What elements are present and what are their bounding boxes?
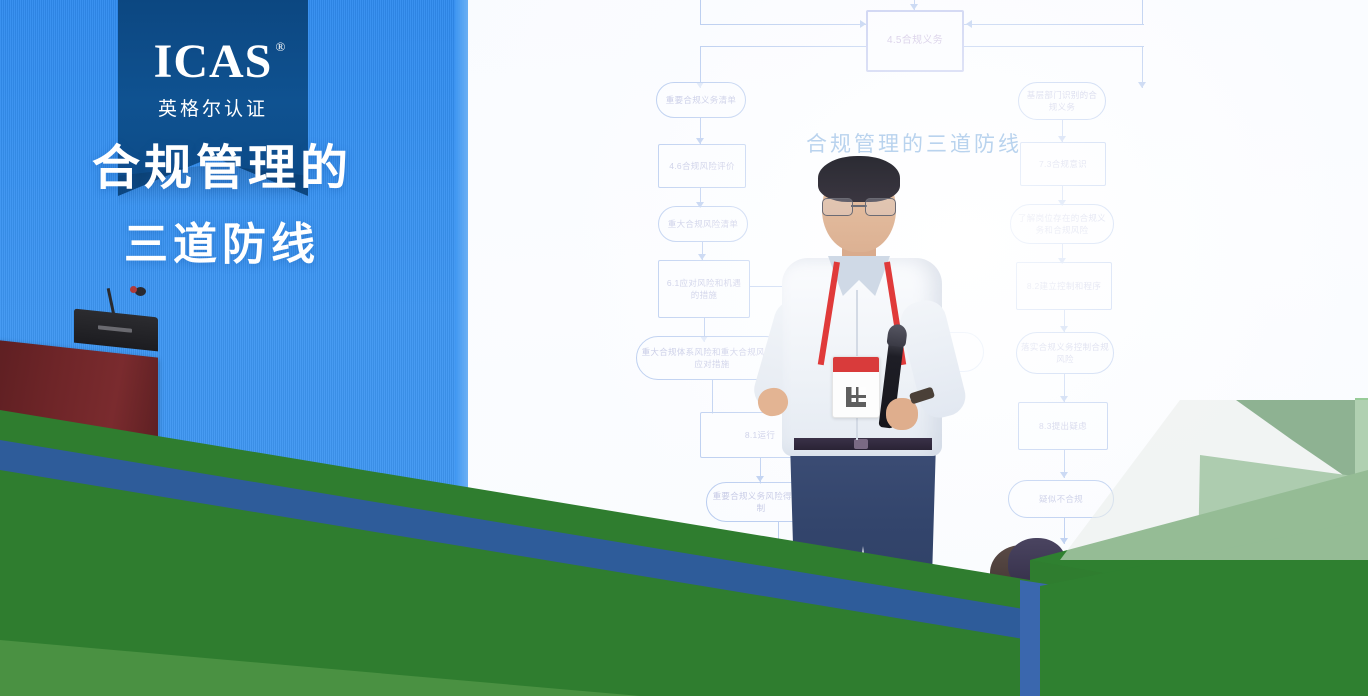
presenter-belt-buckle	[854, 439, 868, 449]
presenter-figure	[760, 150, 990, 630]
podium-microphone-indicator	[130, 286, 137, 293]
presenter-trousers	[790, 442, 936, 642]
flow-line	[964, 46, 1144, 47]
flow-node-left-3: 重大合规风险清单	[658, 206, 748, 242]
flow-node-right-3: 了解岗位存在的合规义务和合规风险	[1010, 204, 1114, 244]
registered-trademark-icon: ®	[275, 40, 286, 53]
flow-node-left-2: 4.6合规风险评价	[658, 144, 746, 188]
glasses-icon	[822, 198, 896, 215]
presenter-badge	[832, 356, 880, 418]
flow-node-left-4: 6.1应对风险和机遇的措施	[658, 260, 750, 318]
flow-arrow	[1060, 538, 1068, 544]
flow-arrow	[966, 20, 972, 28]
backdrop-headline-line1: 合规管理的	[92, 128, 352, 198]
flow-arrow	[860, 20, 866, 28]
flow-node-right-5: 落实合规义务控制合规风险	[1016, 332, 1114, 374]
flow-line	[700, 46, 866, 47]
flow-arrow	[1138, 82, 1146, 88]
flow-line	[712, 380, 713, 414]
presenter-hair	[818, 156, 900, 202]
flow-node-right-7: 疑似不合规	[1008, 480, 1114, 518]
flow-line	[1142, 0, 1143, 24]
flow-node-right-1: 基层部门识别的合规义务	[1018, 82, 1106, 120]
flow-line	[700, 0, 701, 24]
icas-subtitle: 英格尔认证	[158, 94, 268, 121]
audience-head	[626, 536, 686, 590]
flow-node-left-1: 重要合规义务清单	[656, 82, 746, 118]
flow-node-right-2: 7.3合规意识	[1020, 142, 1106, 186]
icas-wordmark-text: ICAS	[154, 35, 273, 88]
badge-header-bar	[833, 357, 879, 372]
flow-arrow	[1060, 472, 1068, 478]
icas-wordmark: ICAS®	[154, 38, 273, 86]
flow-node-right-4: 8.2建立控制和程序	[1016, 262, 1112, 310]
podium-lectern	[0, 340, 158, 476]
flow-arrow	[910, 4, 918, 10]
screenshot-stage: 4.5合规义务 重要合规义务清单 4.6合规风险评价 重大合规风险清单 6.1应…	[0, 0, 1368, 696]
flow-node-central: 4.5合规义务	[866, 10, 964, 72]
flow-node-right-6: 8.3提出疑虑	[1018, 402, 1108, 450]
flow-line	[700, 24, 866, 25]
audience-head	[1008, 538, 1066, 588]
badge-qr-code-icon	[846, 387, 866, 407]
backdrop-headline-line2: 三道防线	[124, 208, 320, 272]
flow-line	[964, 24, 1144, 25]
